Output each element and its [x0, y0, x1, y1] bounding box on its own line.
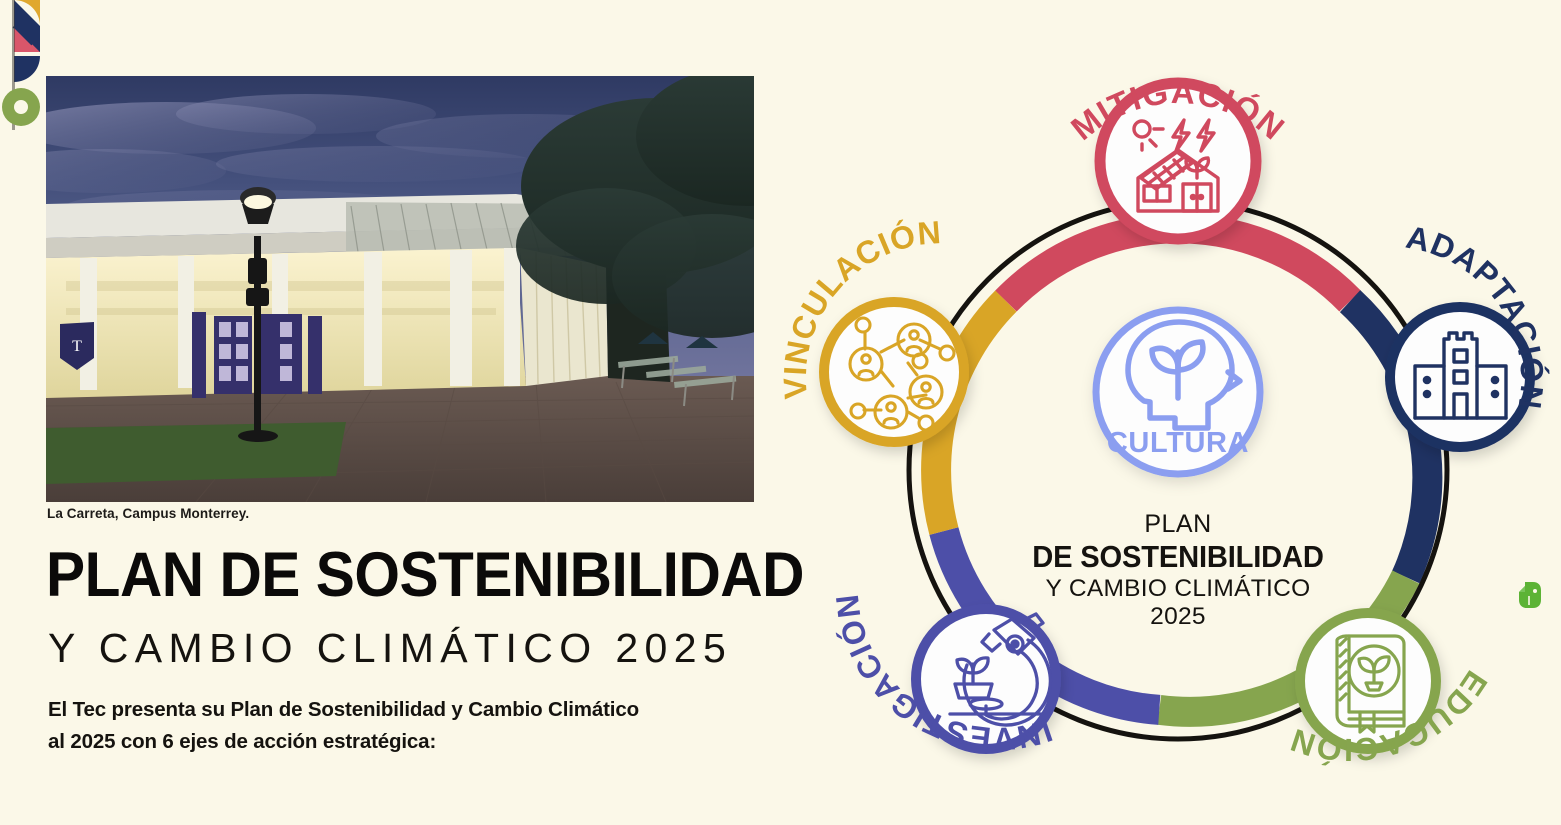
photo-caption: La Carreta, Campus Monterrey.: [47, 506, 249, 521]
center-caption-line3: Y CAMBIO CLIMÁTICO: [1046, 575, 1311, 602]
intro-line-1: El Tec presenta su Plan de Sostenibilida…: [48, 694, 808, 726]
center-caption-line1: PLAN: [1144, 510, 1211, 538]
center-caption: PLAN DE SOSTENIBILIDAD Y CAMBIO CLIMÁTIC…: [1032, 510, 1323, 630]
evernote-clipper-badge[interactable]: [1516, 578, 1544, 610]
svg-text:T: T: [72, 338, 82, 355]
poster-canvas: T: [0, 0, 1561, 825]
node-vinculacion[interactable]: VINCULACIÓN: [777, 214, 964, 442]
left-column: T: [46, 0, 776, 825]
center-caption-line2: DE SOSTENIBILIDAD: [1032, 540, 1323, 574]
campus-photo: T: [46, 76, 754, 502]
node-educacion[interactable]: EDUCACIÓN: [1285, 613, 1494, 768]
campus-photo-image: T: [46, 76, 754, 502]
page-subtitle: Y CAMBIO CLIMÁTICO 2025: [48, 625, 732, 672]
center-caption-line4: 2025: [1150, 603, 1206, 630]
cultura-label: CULTURA: [1107, 427, 1249, 459]
corner-mark-ring: [2, 88, 40, 126]
vinculacion-circle: [824, 302, 964, 442]
intro-line-2: al 2025 con 6 ejes de acción estratégica…: [48, 726, 808, 758]
node-adaptacion[interactable]: ADAPTACIÓN: [1390, 219, 1551, 447]
corner-mark: [0, 0, 40, 130]
page-title: PLAN DE SOSTENIBILIDAD: [46, 545, 804, 606]
strategy-wheel-diagram: CULTURA PLAN DE SOSTENIBILIDAD Y CAMBIO …: [760, 0, 1561, 825]
intro-paragraph: El Tec presenta su Plan de Sostenibilida…: [48, 694, 808, 759]
node-investigacion[interactable]: INVESTIGACIÓN: [829, 592, 1057, 757]
center-node-cultura[interactable]: CULTURA: [1096, 310, 1260, 474]
